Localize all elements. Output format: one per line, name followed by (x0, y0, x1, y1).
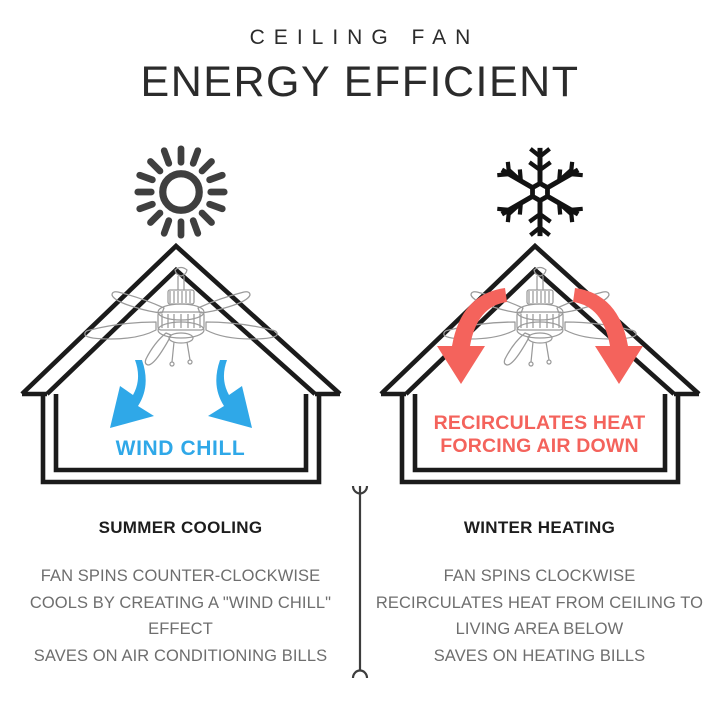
in-house-label-line: RECIRCULATES HEAT (367, 412, 712, 435)
body-line: SAVES ON AIR CONDITIONING BILLS (8, 643, 353, 670)
body-line: FAN SPINS CLOCKWISE (367, 563, 712, 590)
airflow-arrows-blue (110, 360, 252, 428)
body-line: LIVING AREA BELOW (367, 616, 712, 643)
eyebrow-title: CEILING FAN (0, 26, 720, 49)
ceiling-fan-lineart (84, 268, 276, 367)
section-body-winter: FAN SPINS CLOCKWISE RECIRCULATES HEAT FR… (367, 563, 712, 670)
body-line: RECIRCULATES HEAT FROM CEILING TO (367, 590, 712, 617)
in-house-label-winter: RECIRCULATES HEAT FORCING AIR DOWN (367, 412, 712, 458)
snowflake-icon (492, 144, 588, 240)
body-line: COOLS BY CREATING A "WIND CHILL" (8, 590, 353, 617)
in-house-label-line: WIND CHILL (8, 437, 353, 462)
body-line: SAVES ON HEATING BILLS (367, 643, 712, 670)
body-line: EFFECT (8, 616, 353, 643)
page-header: CEILING FAN ENERGY EFFICIENT (0, 26, 720, 105)
page-title: ENERGY EFFICIENT (0, 60, 720, 105)
airflow-arrows-red (437, 288, 643, 384)
vertical-divider-with-arc-caps (345, 482, 375, 682)
section-title-winter: WINTER HEATING (367, 518, 712, 538)
panel-summer-cooling: WIND CHILL SUMMER COOLING FAN SPINS COUN… (8, 130, 353, 690)
body-line: FAN SPINS COUNTER-CLOCKWISE (8, 563, 353, 590)
in-house-label-summer: WIND CHILL (8, 437, 353, 462)
sun-icon (133, 144, 229, 240)
airflow-arrow-right (208, 360, 252, 428)
house-illustration-winter (375, 238, 705, 498)
section-title-summer: SUMMER COOLING (8, 518, 353, 538)
panel-winter-heating: RECIRCULATES HEAT FORCING AIR DOWN WINTE… (367, 130, 712, 690)
section-body-summer: FAN SPINS COUNTER-CLOCKWISE COOLS BY CRE… (8, 563, 353, 670)
airflow-arrow-left (110, 360, 154, 428)
in-house-label-line: FORCING AIR DOWN (367, 435, 712, 458)
